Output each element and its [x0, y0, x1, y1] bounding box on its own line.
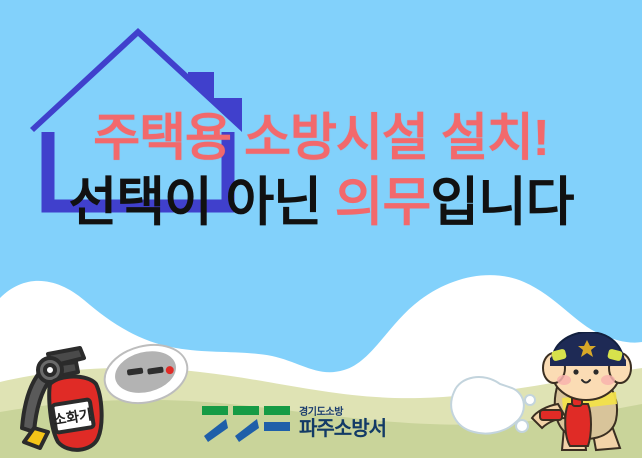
- gyeonggi-fire-service-logo-mark: [200, 402, 292, 444]
- fire-station-logo: 경기도소방 파주소방서: [200, 398, 410, 448]
- firefighter-mascot-icon: [440, 332, 640, 456]
- logo-wordmark: 경기도소방 파주소방서: [299, 407, 386, 440]
- logo-station-name: 파주소방서: [299, 418, 386, 440]
- smoke-detector-icon: [94, 334, 198, 414]
- headline-line-2: 선택이 아닌 의무입니다: [0, 176, 642, 229]
- headline-line-2-end: 입니다: [430, 173, 573, 232]
- extinguisher-spray-icon: [451, 377, 535, 434]
- logo-organization-name: 경기도소방: [299, 407, 386, 418]
- headline-block: 주택용 소방시설 설치! 선택이 아닌 의무입니다: [0, 112, 642, 229]
- headline-line-2-accent: 의무: [335, 173, 431, 232]
- headline-line-1: 주택용 소방시설 설치!: [0, 112, 642, 163]
- headline-line-2-start: 선택이 아닌: [68, 173, 334, 232]
- fire-safety-poster: 주택용 소방시설 설치! 선택이 아닌 의무입니다 소화기: [0, 0, 642, 458]
